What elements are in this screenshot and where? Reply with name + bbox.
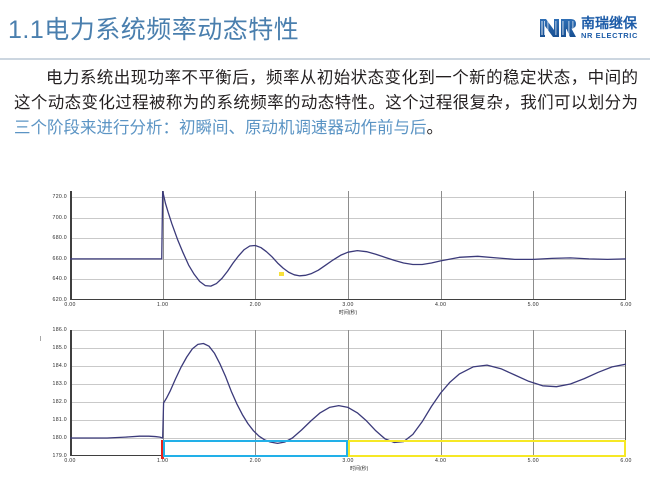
stage-box-cyan[interactable]	[163, 440, 348, 457]
slide-header: 1.1电力系统频率动态特性	[0, 0, 650, 60]
x-axis-tick-label: 6.00	[620, 302, 631, 308]
series-canvas	[70, 330, 626, 456]
header-divider	[0, 58, 650, 60]
brand-text: 南瑞继保 NR ELECTRIC	[581, 16, 638, 40]
y-axis-tick-label: 680.0	[53, 235, 67, 241]
x-axis-tick-label: 3.00	[342, 458, 353, 464]
y-axis-tick-label: 185.0	[53, 345, 67, 351]
x-axis-tick-label: 2.00	[250, 302, 261, 308]
x-axis-title: 时间(秒)	[339, 309, 357, 316]
y-axis-tick-label: 183.0	[53, 381, 67, 387]
y-axis-tick-label: 184.0	[53, 363, 67, 369]
x-axis-tick-label: 6.00	[620, 458, 631, 464]
chart-power-oscillation: 720.0700.0680.0660.0640.0620.00.001.002.…	[38, 186, 638, 318]
y-axis-tick-label: 720.0	[53, 194, 67, 200]
y-axis-tick-label: 182.0	[53, 399, 67, 405]
plot-area	[70, 330, 626, 456]
yellow-marker-icon	[279, 272, 284, 276]
brand-name-cn: 南瑞继保	[581, 16, 638, 30]
nr-logo-icon	[540, 17, 576, 39]
data-series-line	[70, 191, 626, 286]
x-axis-tick-label: 0.00	[64, 302, 75, 308]
y-axis-tick-label: 640.0	[53, 276, 67, 282]
brand-logo: 南瑞继保 NR ELECTRIC	[540, 16, 638, 40]
x-axis-tick-label: 1.00	[157, 302, 168, 308]
series-canvas	[70, 191, 626, 300]
paragraph-part-1: 电力系统出现功率不平衡后，频率从初始状态变化到一个新的稳定状态，中间的这个动态变…	[14, 69, 638, 112]
paragraph-highlight: 三个阶段来进行分析：初瞬间、原动机调速器动作前与后	[14, 119, 427, 137]
chart-frequency-dynamics: 186.0185.0184.0183.0182.0181.0180.0179.0…	[38, 322, 638, 478]
x-axis-tick-label: 5.00	[528, 302, 539, 308]
stage-box-yellow[interactable]	[348, 440, 626, 457]
x-axis-title: 时间(秒)	[350, 465, 368, 472]
y-axis-tick-label: 660.0	[53, 256, 67, 262]
plot-area	[70, 191, 626, 300]
x-axis-tick-label: 2.00	[250, 458, 261, 464]
x-axis-tick-label: 4.00	[435, 302, 446, 308]
paragraph-part-2: 。	[427, 119, 444, 137]
y-axis-tick-label: 180.0	[53, 435, 67, 441]
x-axis-tick-label: 0.00	[64, 458, 75, 464]
page-title: 1.1电力系统频率动态特性	[8, 14, 299, 46]
y-axis-unit-label: |	[40, 336, 41, 342]
x-axis-tick-label: 5.00	[528, 458, 539, 464]
y-axis-tick-label: 181.0	[53, 417, 67, 423]
x-axis-tick-label: 3.00	[342, 302, 353, 308]
data-series-line	[70, 344, 626, 444]
body-paragraph: 电力系统出现功率不平衡后，频率从初始状态变化到一个新的稳定状态，中间的这个动态变…	[14, 66, 638, 141]
x-axis-tick-label: 4.00	[435, 458, 446, 464]
y-axis-tick-label: 700.0	[53, 215, 67, 221]
slide-canvas: 1.1电力系统频率动态特性	[0, 0, 650, 484]
y-axis-tick-label: 186.0	[53, 327, 67, 333]
brand-name-en: NR ELECTRIC	[581, 32, 638, 40]
